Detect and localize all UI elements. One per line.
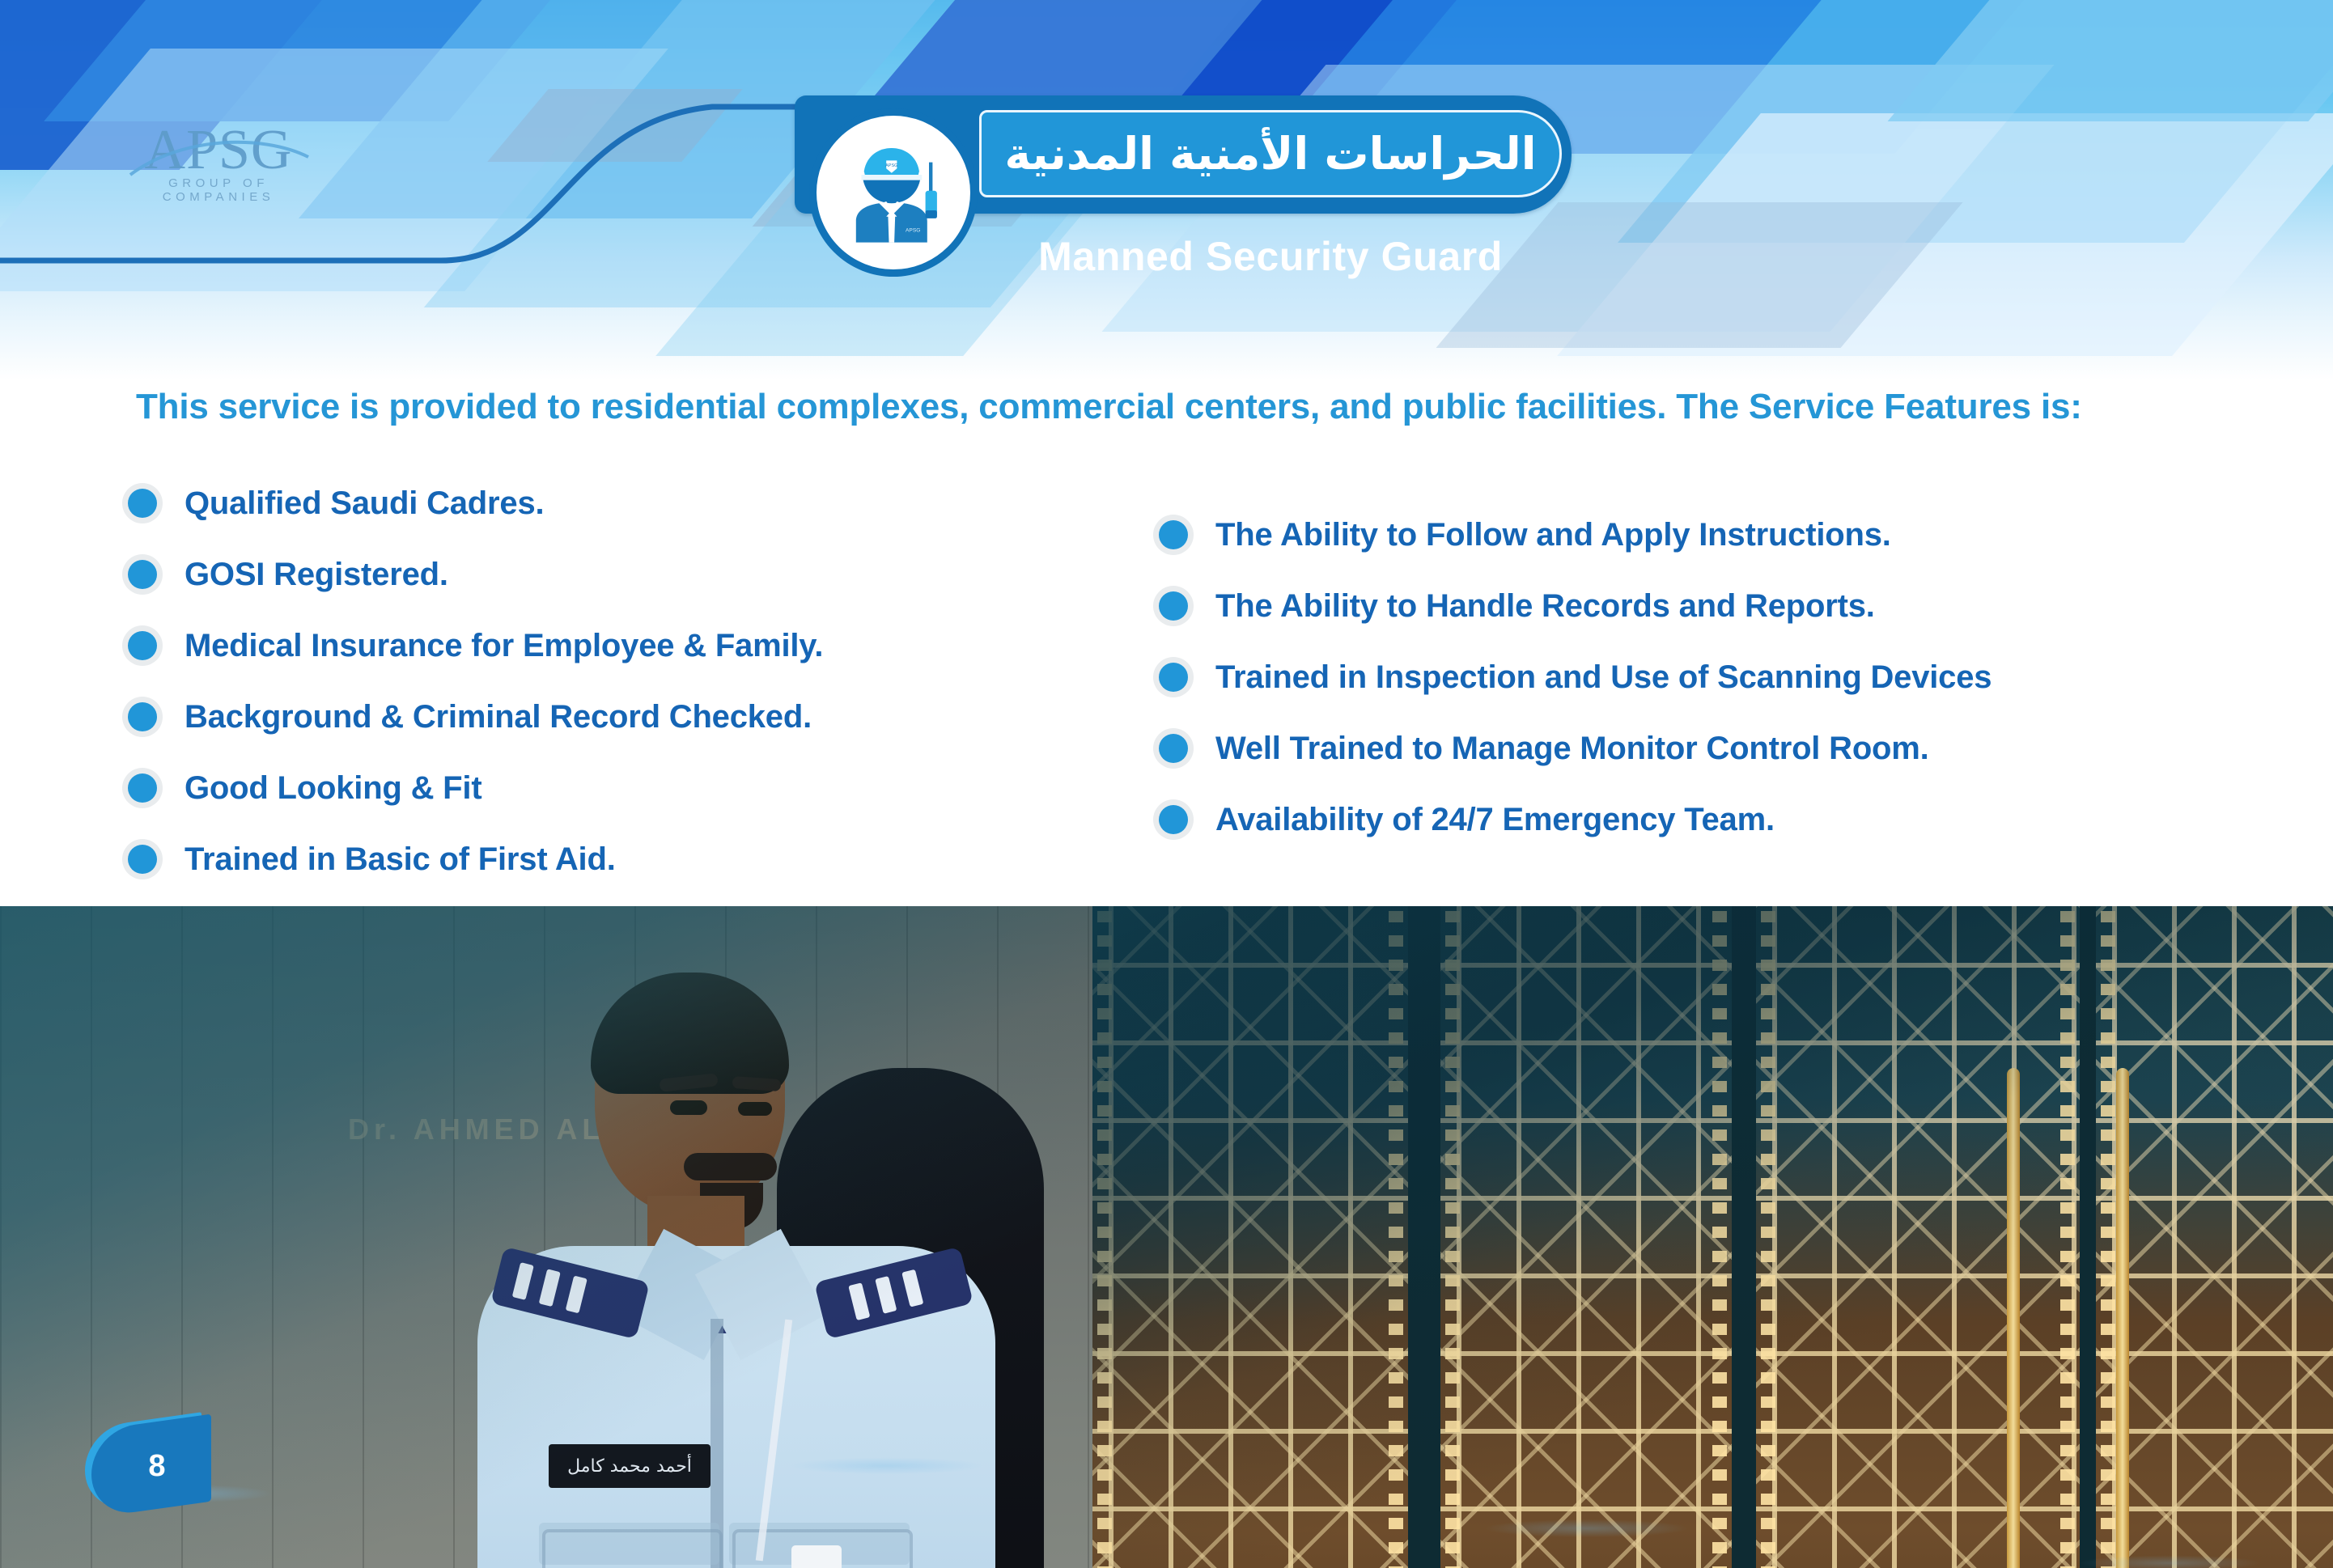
- bullet-dot-icon: [128, 773, 157, 803]
- bullet-dot-icon: [128, 489, 157, 518]
- hero-photo-content: Dr. AHMED ALI ATT: [0, 906, 2333, 1568]
- list-item-label: Good Looking & Fit: [185, 770, 481, 807]
- service-title-arabic-box: الحراسات الأمنية المدنية: [979, 110, 1562, 197]
- apsg-logo: APSG GROUP OF COMPANIES: [125, 121, 312, 206]
- list-item: Background & Criminal Record Checked.: [128, 681, 1083, 752]
- hero-photo-arc-mask: Dr. AHMED ALI ATT: [0, 906, 2333, 1568]
- guard-chest-pocket: [542, 1529, 723, 1568]
- list-item-label: Qualified Saudi Cadres.: [185, 485, 544, 522]
- rank-bar: [539, 1269, 561, 1307]
- rank-bar: [848, 1282, 870, 1320]
- page-number-badge: 8: [91, 1422, 211, 1510]
- guard-eye: [738, 1102, 772, 1116]
- list-item: Qualified Saudi Cadres.: [128, 468, 1083, 539]
- list-item-label: The Ability to Handle Records and Report…: [1215, 588, 1875, 625]
- list-item: Trained in Inspection and Use of Scannin…: [1159, 642, 2211, 713]
- rank-bar: [566, 1276, 587, 1314]
- list-item-label: Well Trained to Manage Monitor Control R…: [1215, 731, 1929, 767]
- list-item: GOSI Registered.: [128, 539, 1083, 610]
- bullet-dot-icon: [1159, 734, 1188, 763]
- intro-paragraph: This service is provided to residential …: [136, 387, 2240, 427]
- svg-text:APSG: APSG: [906, 227, 920, 233]
- guard-figure: أحمد محمد كامل: [453, 979, 1036, 1568]
- bullet-dot-icon: [128, 845, 157, 874]
- page-number: 8: [91, 1422, 211, 1510]
- rank-bar: [512, 1262, 534, 1300]
- security-guard-icon: APSG APSG: [840, 139, 947, 246]
- bullet-dot-icon: [128, 631, 157, 660]
- service-icon-circle: APSG APSG: [809, 108, 978, 277]
- list-item: The Ability to Follow and Apply Instruct…: [1159, 499, 2211, 570]
- list-item: Well Trained to Manage Monitor Control R…: [1159, 713, 2211, 784]
- logo-swash-icon: [125, 129, 312, 186]
- list-item-label: Medical Insurance for Employee & Family.: [185, 628, 823, 664]
- ornate-doors: [1092, 906, 2333, 1568]
- guard-eye: [670, 1100, 707, 1115]
- list-item: Good Looking & Fit: [128, 752, 1083, 824]
- list-item-label: Background & Criminal Record Checked.: [185, 699, 812, 735]
- rank-bar: [875, 1276, 897, 1314]
- list-item-label: GOSI Registered.: [185, 557, 448, 593]
- bullet-dot-icon: [128, 560, 157, 589]
- guard-id-badge: [791, 1545, 842, 1568]
- bullet-dot-icon: [1159, 663, 1188, 692]
- list-item: Medical Insurance for Employee & Family.: [128, 610, 1083, 681]
- bullet-dot-icon: [1159, 520, 1188, 549]
- svg-text:APSG: APSG: [885, 163, 897, 168]
- features-list-right: The Ability to Follow and Apply Instruct…: [1159, 499, 2211, 855]
- service-title-english: Manned Security Guard: [979, 233, 1562, 280]
- list-item-label: Trained in Basic of First Aid.: [185, 841, 616, 878]
- hero-photo: Dr. AHMED ALI ATT: [0, 906, 2333, 1568]
- list-item: Availability of 24/7 Emergency Team.: [1159, 784, 2211, 855]
- doors-shadow-overlay: [1092, 906, 2333, 1568]
- list-item: Trained in Basic of First Aid.: [128, 824, 1083, 895]
- bullet-dot-icon: [128, 702, 157, 731]
- service-title-arabic: الحراسات الأمنية المدنية: [1004, 128, 1536, 180]
- list-item: The Ability to Handle Records and Report…: [1159, 570, 2211, 642]
- features-list-left: Qualified Saudi Cadres. GOSI Registered.…: [128, 468, 1083, 895]
- bullet-dot-icon: [1159, 591, 1188, 621]
- bullet-dot-icon: [1159, 805, 1188, 834]
- rank-bar: [901, 1269, 923, 1307]
- guard-name-tag: أحمد محمد كامل: [549, 1444, 711, 1488]
- guard-moustache: [684, 1153, 777, 1180]
- list-item-label: Trained in Inspection and Use of Scannin…: [1215, 659, 1992, 696]
- list-item-label: The Ability to Follow and Apply Instruct…: [1215, 517, 1891, 553]
- list-item-label: Availability of 24/7 Emergency Team.: [1215, 802, 1775, 838]
